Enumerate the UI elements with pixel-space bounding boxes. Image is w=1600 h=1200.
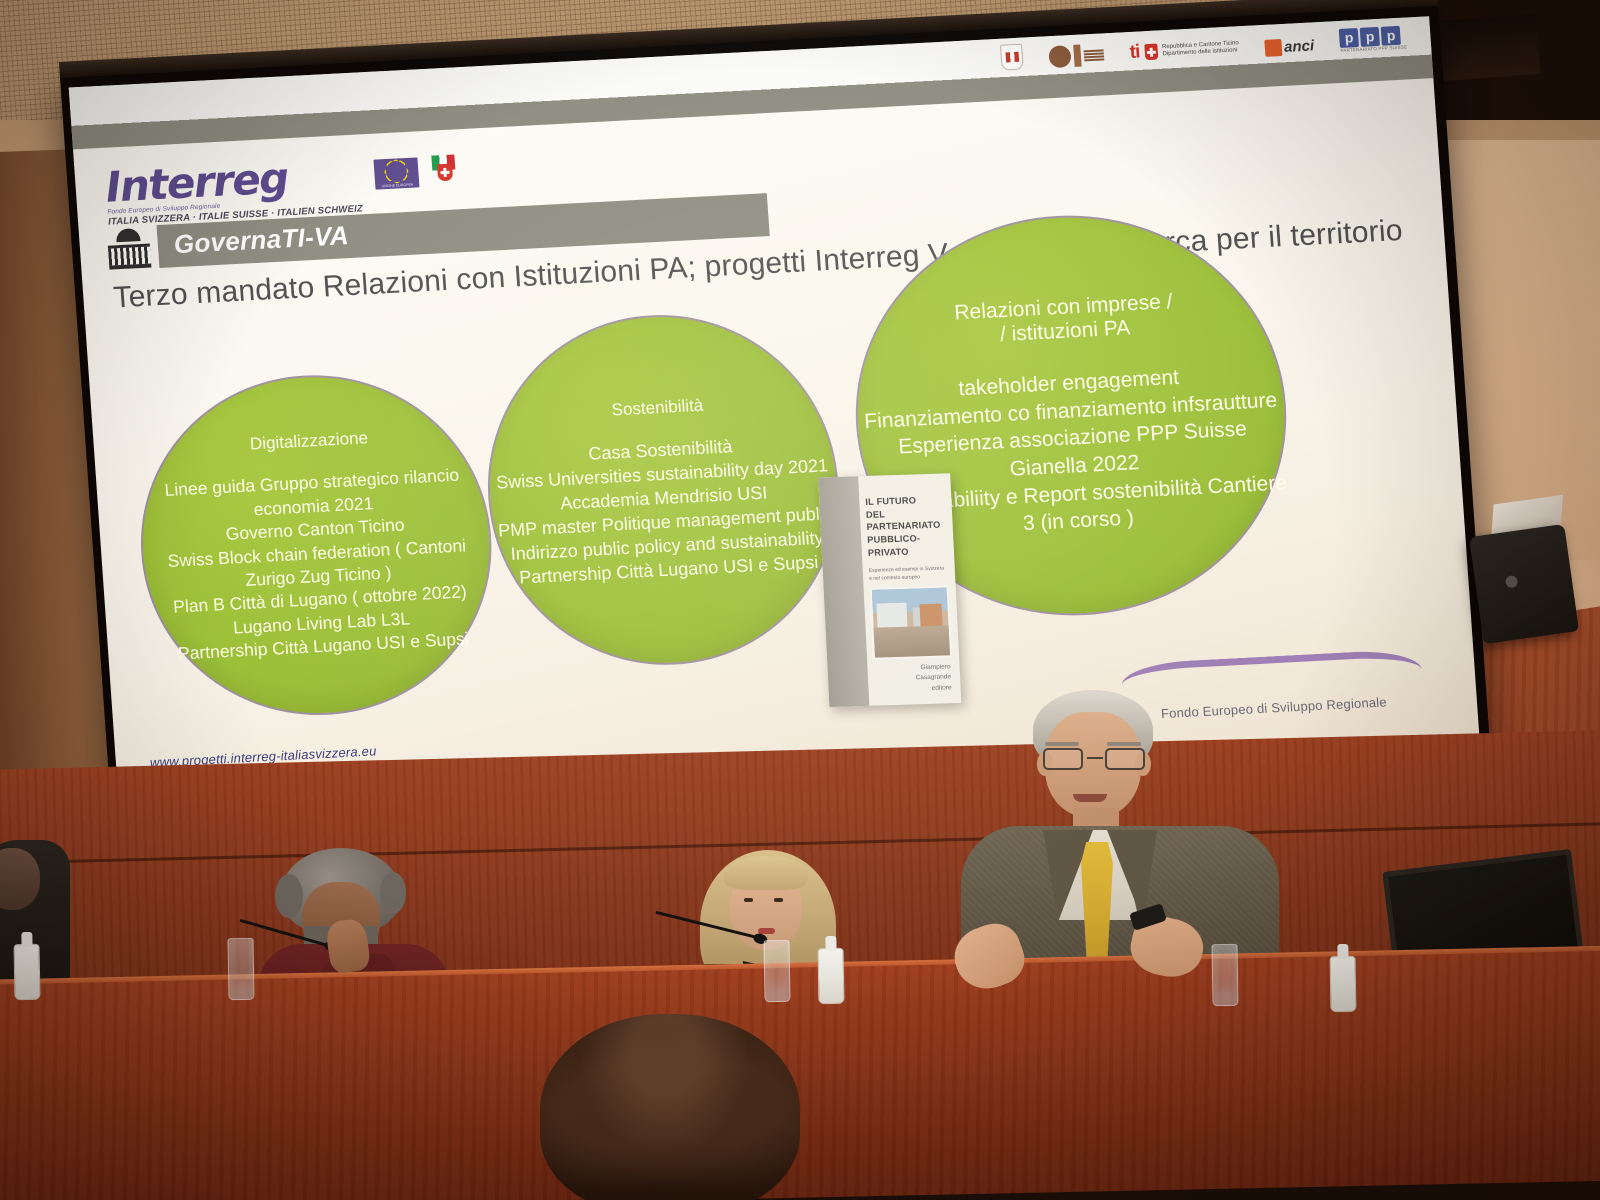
usi-logo	[1048, 43, 1104, 68]
anci-label: anci	[1284, 37, 1315, 56]
ppp-logo: ppp PARTENARIATO PPP SUISSE	[1339, 26, 1407, 53]
eu-flag-icon: UNIONE EUROPEA	[374, 157, 420, 189]
usi-lines-icon	[1083, 49, 1104, 61]
presenter-eyebrow-left	[1045, 742, 1079, 746]
book-spine	[818, 476, 869, 707]
eu-flag-caption: UNIONE EUROPEA	[375, 182, 419, 188]
circle-3-heading: Relazioni con imprese / / istituzioni PA	[954, 290, 1175, 349]
anci-logo: anci	[1265, 37, 1315, 57]
audience-head-hair	[540, 1014, 800, 1200]
circle-2-body: Casa Sostenibilità Swiss Universities su…	[487, 429, 843, 591]
circle-2-heading: Sostenibilità	[611, 395, 704, 420]
usi-dot-icon	[1048, 45, 1072, 68]
presenter-mouth	[1073, 794, 1107, 802]
water-glass-left	[227, 938, 254, 1000]
ti-mark-label: ti	[1129, 41, 1140, 63]
circle-sostenibilita: Sostenibilità Casa Sostenibilità Swiss U…	[476, 306, 850, 673]
sanitizer-bottle-right	[1330, 956, 1357, 1012]
water-glass-right	[1211, 944, 1238, 1006]
panelist-center-fringe	[724, 856, 808, 890]
swiss-shield-icon	[1144, 44, 1158, 61]
citta-crest-logo	[1000, 44, 1024, 71]
book-title: IL FUTURO DEL PARTENARIATO PUBBLICO-PRIV…	[865, 494, 946, 560]
anci-square-icon	[1265, 39, 1283, 57]
italy-switzerland-flag-icon	[431, 154, 456, 181]
ti-logo-text: Repubblica e Cantone Ticino Dipartimento…	[1162, 40, 1240, 59]
circle-1-heading: Digitalizzazione	[249, 429, 368, 455]
sanitizer-bottle-center	[818, 948, 845, 1004]
building-emblem-icon	[107, 227, 152, 269]
conference-room-photo: ti Repubblica e Cantone Ticino Dipartime…	[0, 0, 1600, 1200]
book-cover-photo	[870, 585, 953, 659]
book-cover-image: IL FUTURO DEL PARTENARIATO PUBBLICO-PRIV…	[818, 473, 961, 707]
circle-digitalizzazione: Digitalizzazione Linee guida Gruppo stra…	[130, 366, 503, 723]
sanitizer-bottle-left	[14, 944, 41, 1000]
circle-1-body: Linee guida Gruppo strategico rilancio e…	[138, 463, 497, 668]
usi-bar-icon	[1073, 45, 1082, 67]
panelist-center-eye-left	[744, 898, 753, 902]
presenter-eyebrow-right	[1107, 742, 1141, 746]
water-glass-center	[763, 940, 790, 1002]
crest-icon	[1000, 44, 1024, 71]
panelist-center-eye-right	[774, 898, 783, 902]
book-publisher: Giampiero Casagrande editore	[915, 662, 952, 694]
wall-speaker-icon	[1469, 524, 1579, 644]
book-subtitle: Esperienze ed esempi in Svizzera e nel c…	[869, 566, 948, 583]
glasses-icon	[1039, 748, 1149, 772]
audience-head	[540, 1014, 800, 1200]
